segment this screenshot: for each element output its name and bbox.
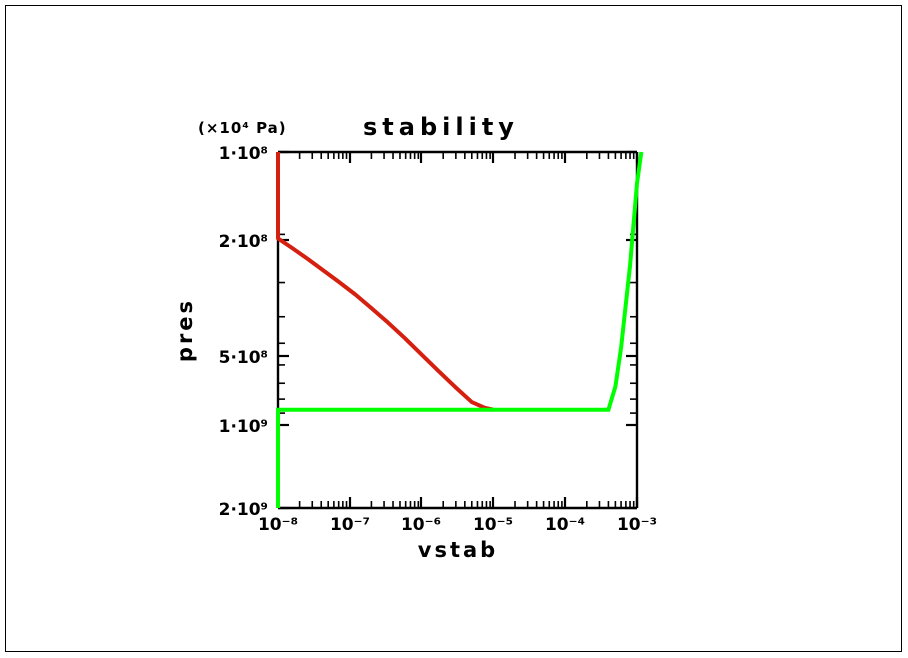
x-tick-labels: 10⁻⁸ 10⁻⁷ 10⁻⁶ 10⁻⁵ 10⁻⁴ 10⁻³ [258, 515, 657, 535]
x-tick-label-0: 10⁻⁸ [258, 515, 298, 535]
x-tick-label-2: 10⁻⁶ [401, 515, 441, 535]
lower-boundary-curve [278, 152, 641, 508]
x-tick-label-1: 10⁻⁷ [330, 515, 370, 535]
y-axis-unit-label: (×10⁴ Pa) [198, 119, 287, 137]
figure-canvas: (×10⁴ Pa) stability [0, 0, 908, 658]
x-axis-title: vstab [418, 538, 498, 562]
x-minor-ticks [300, 152, 634, 508]
y-tick-label-1: 2·10⁸ [219, 232, 268, 252]
x-tick-label-5: 10⁻³ [617, 515, 657, 535]
plot-frame [278, 152, 637, 508]
x-major-ticks [278, 152, 637, 508]
y-tick-label-2: 5·10⁸ [219, 348, 268, 368]
plot-title: stability [363, 113, 519, 141]
y-major-ticks [278, 152, 637, 508]
y-tick-label-3: 1·10⁹ [219, 417, 268, 437]
upper-boundary-curve [278, 152, 493, 410]
x-tick-label-3: 10⁻⁵ [473, 515, 513, 535]
y-axis-title: pres [173, 298, 197, 362]
stability-plot: (×10⁴ Pa) stability [0, 0, 908, 658]
y-tick-labels: 1·10⁸ 2·10⁸ 5·10⁸ 1·10⁹ 2·10⁹ [219, 144, 268, 520]
y-minor-ticks [278, 234, 637, 413]
x-tick-label-4: 10⁻⁴ [545, 515, 585, 535]
y-tick-label-0: 1·10⁸ [219, 144, 268, 164]
